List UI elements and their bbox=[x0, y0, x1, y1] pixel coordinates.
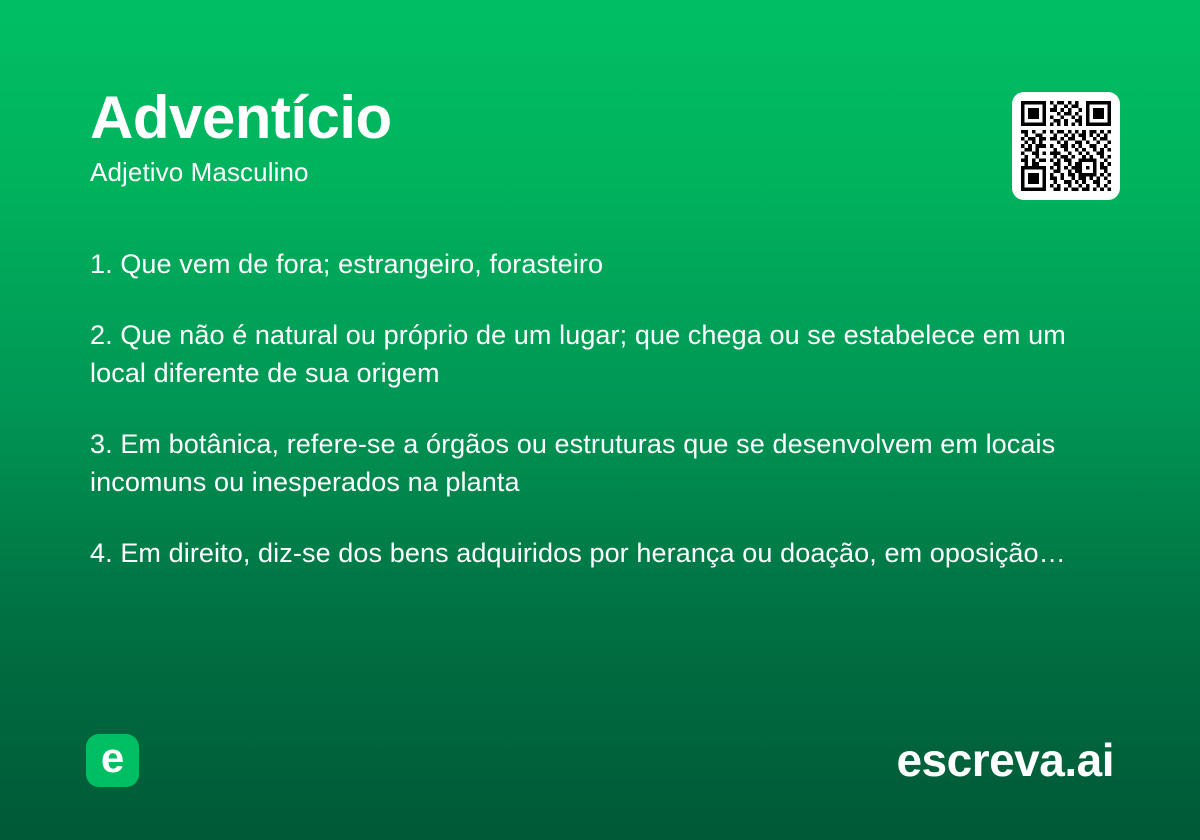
list-item: 2. Que não é natural ou próprio de um lu… bbox=[90, 316, 1115, 392]
brand-name: escreva.ai bbox=[896, 737, 1114, 783]
definition-list: 1. Que vem de fora; estrangeiro, foraste… bbox=[90, 245, 1115, 572]
card-footer: e escreva.ai bbox=[0, 732, 1200, 788]
word-definition-card: Adventício Adjetivo Masculino bbox=[0, 0, 1200, 840]
word-class-label: Adjetivo Masculino bbox=[90, 157, 950, 188]
escreva-logo-icon: e bbox=[86, 734, 139, 787]
card-header: Adventício Adjetivo Masculino bbox=[90, 86, 950, 188]
page-title: Adventício bbox=[90, 86, 950, 151]
list-item: 1. Que vem de fora; estrangeiro, foraste… bbox=[90, 245, 1115, 283]
list-item: 3. Em botânica, refere-se a órgãos ou es… bbox=[90, 425, 1115, 501]
list-item: 4. Em direito, diz-se dos bens adquirido… bbox=[90, 534, 1115, 572]
logo-letter: e bbox=[101, 737, 124, 779]
qr-code-icon[interactable] bbox=[1012, 92, 1120, 200]
